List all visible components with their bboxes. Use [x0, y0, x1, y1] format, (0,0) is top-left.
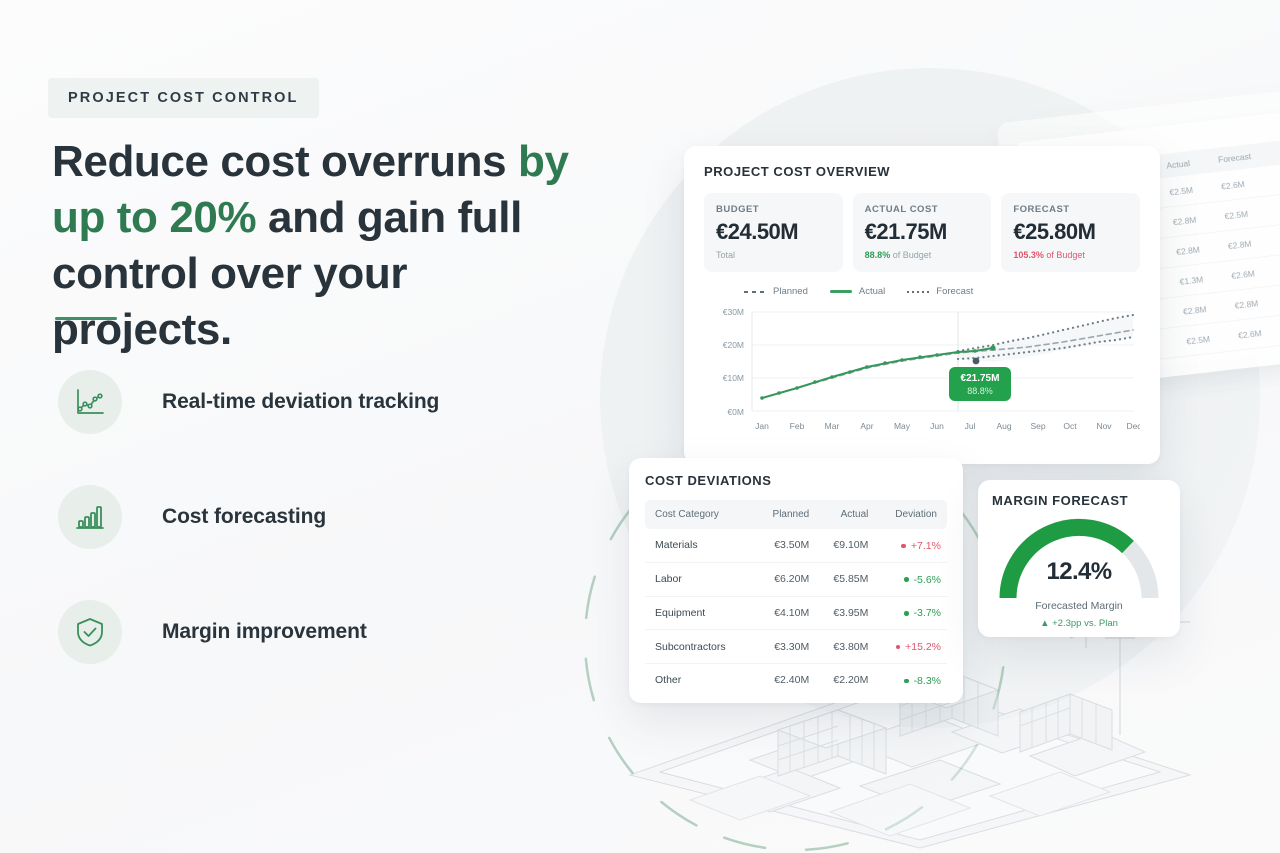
table-row[interactable]: Materials €3.50M €9.10M +7.1% [645, 529, 947, 562]
kpi-sub-text: Total [716, 250, 735, 260]
legend-label: Actual [859, 286, 885, 297]
legend-item-forecast[interactable]: Forecast [907, 286, 973, 297]
svg-text:Nov: Nov [1096, 421, 1112, 431]
gauge-value: 12.4% [992, 558, 1166, 586]
cell-category: Other [645, 664, 754, 697]
x-axis-ticks: Jan Feb Mar Apr May Jun Jul Aug Sep Oct … [755, 421, 1140, 431]
status-badge [1272, 169, 1280, 187]
gauge-delta: ▲ +2.3pp vs. Plan [992, 618, 1166, 629]
cost-trend-chart: €30M €20M €10M €0M [704, 303, 1140, 445]
deviations-table: Cost Category Planned Actual Deviation M… [645, 500, 947, 697]
legend-dash-icon [744, 291, 766, 293]
deviation-value: -3.7% [914, 607, 941, 619]
svg-text:Jan: Jan [755, 421, 769, 431]
kpi-value: €24.50M [716, 219, 831, 245]
kpi-label: BUDGET [716, 204, 831, 215]
deviation-value: +7.1% [911, 540, 941, 552]
cell-category: Labor [645, 562, 754, 596]
svg-text:€0M: €0M [727, 407, 744, 417]
cell-deviation: -3.7% [874, 596, 947, 630]
legend-label: Planned [773, 286, 808, 297]
cell-deviation: +7.1% [874, 529, 947, 562]
chart-legend: Planned Actual Forecast [704, 286, 1140, 297]
column-header: Status [1269, 144, 1280, 159]
svg-text:Jul: Jul [965, 421, 976, 431]
svg-text:May: May [894, 421, 911, 431]
legend-label: Forecast [936, 286, 973, 297]
forecast-band [958, 315, 1133, 362]
kpi-label: FORECAST [1013, 204, 1128, 215]
gauge-svg [992, 514, 1166, 600]
dashboard-mockup: Project Cost Category Budget Actual Fore… [0, 0, 1280, 853]
kpi-tile-budget[interactable]: BUDGET €24.50M Total [704, 193, 843, 272]
svg-text:Sep: Sep [1030, 421, 1045, 431]
table-header-row: Cost Category Planned Actual Deviation [645, 500, 947, 529]
cell-actual: €3.80M [815, 630, 874, 664]
deviation-value: -5.6% [914, 574, 941, 586]
cell-planned: €3.50M [754, 529, 815, 562]
kpi-sub: Total [716, 250, 831, 260]
y-axis-ticks: €30M €20M €10M €0M [723, 307, 744, 417]
svg-text:Oct: Oct [1063, 421, 1077, 431]
cell-actual: €2.20M [815, 664, 874, 697]
card-title: COST DEVIATIONS [645, 473, 947, 488]
kpi-row: BUDGET €24.50M Total ACTUAL COST €21.75M… [704, 193, 1140, 272]
chart-tooltip: €21.75M 88.8% [949, 367, 1011, 401]
margin-gauge: 12.4% [992, 514, 1166, 600]
legend-line-icon [830, 290, 852, 293]
column-header-planned: Planned [754, 500, 815, 529]
cell-deviation: +15.2% [874, 630, 947, 664]
card-title: MARGIN FORECAST [992, 493, 1166, 508]
cell-deviation: -5.6% [874, 562, 947, 596]
cell-category: Subcontractors [645, 630, 754, 664]
table-row[interactable]: Other €2.40M €2.20M -8.3% [645, 664, 947, 697]
svg-text:Feb: Feb [790, 421, 805, 431]
margin-forecast-card: MARGIN FORECAST 12.4% Forecasted Margin … [978, 480, 1180, 637]
cost-deviations-card: COST DEVIATIONS Cost Category Planned Ac… [629, 458, 963, 703]
kpi-label: ACTUAL COST [865, 204, 980, 215]
kpi-sub-text: of Budget [1044, 250, 1085, 260]
column-header-deviation: Deviation [874, 500, 947, 529]
deviation-value: -8.3% [914, 675, 941, 687]
legend-item-actual[interactable]: Actual [830, 286, 885, 297]
cell-actual: €3.95M [815, 596, 874, 630]
chart-gridlines [752, 312, 1134, 411]
cell-planned: €6.20M [754, 562, 815, 596]
svg-text:€20M: €20M [723, 340, 744, 350]
svg-text:Aug: Aug [996, 421, 1011, 431]
svg-text:Apr: Apr [860, 421, 873, 431]
legend-dotted-icon [907, 291, 929, 293]
kpi-tile-forecast[interactable]: FORECAST €25.80M 105.3% of Budget [1001, 193, 1140, 272]
cell-planned: €2.40M [754, 664, 815, 697]
kpi-sub: 88.8% of Budget [865, 250, 980, 260]
table-row[interactable]: Equipment €4.10M €3.95M -3.7% [645, 596, 947, 630]
kpi-sub-percent: 105.3% [1013, 250, 1044, 260]
kpi-value: €25.80M [1013, 219, 1128, 245]
column-header-actual: Actual [815, 500, 874, 529]
svg-text:Dec: Dec [1126, 421, 1140, 431]
gauge-caption: Forecasted Margin [992, 600, 1166, 612]
kpi-tile-actual-cost[interactable]: ACTUAL COST €21.75M 88.8% of Budget [853, 193, 992, 272]
legend-item-planned[interactable]: Planned [744, 286, 808, 297]
svg-text:€10M: €10M [723, 373, 744, 383]
cell-actual: €5.85M [815, 562, 874, 596]
highlight-point [973, 358, 980, 365]
kpi-sub-text: of Budget [890, 250, 931, 260]
column-header: Actual [1166, 155, 1219, 171]
tooltip-percent: 88.8% [967, 386, 993, 396]
cell-planned: €3.30M [754, 630, 815, 664]
cell-category: Materials [645, 529, 754, 562]
svg-text:Mar: Mar [825, 421, 840, 431]
card-title: PROJECT COST OVERVIEW [704, 164, 1140, 179]
chart-svg: €30M €20M €10M €0M [704, 303, 1140, 445]
kpi-sub-percent: 88.8% [865, 250, 891, 260]
project-cost-overview-card: PROJECT COST OVERVIEW BUDGET €24.50M Tot… [684, 146, 1160, 464]
column-header: Forecast [1218, 149, 1271, 165]
cell-planned: €4.10M [754, 596, 815, 630]
svg-text:€30M: €30M [723, 307, 744, 317]
cell-category: Equipment [645, 596, 754, 630]
kpi-sub: 105.3% of Budget [1013, 250, 1128, 260]
deviation-value: +15.2% [905, 641, 941, 653]
page-root: PROJECT COST CONTROL Reduce cost overrun… [0, 0, 1280, 853]
svg-text:Jun: Jun [930, 421, 944, 431]
cell-actual: €9.10M [815, 529, 874, 562]
tooltip-value: €21.75M [961, 373, 1000, 384]
table-row[interactable]: Subcontractors €3.30M €3.80M +15.2% [645, 630, 947, 664]
column-header-category: Cost Category [645, 500, 754, 529]
table-row[interactable]: Labor €6.20M €5.85M -5.6% [645, 562, 947, 596]
cell-deviation: -8.3% [874, 664, 947, 697]
kpi-value: €21.75M [865, 219, 980, 245]
status-badge [1275, 198, 1280, 216]
